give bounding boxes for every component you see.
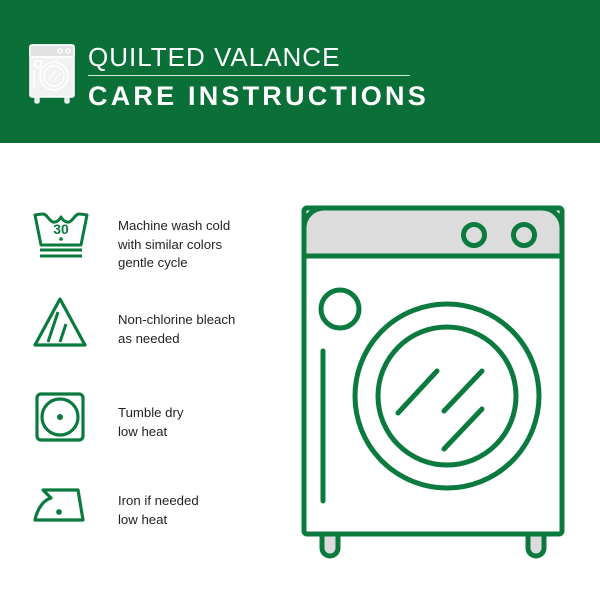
leg-left [322,534,338,556]
wash-temperature-value: 30 [53,221,69,237]
care-text-line: low heat [118,511,283,530]
care-text-line: as needed [118,330,283,349]
care-text-line: with similar colors [118,236,283,255]
machine-wash-cold-30-gentle-icon: 30 [31,205,91,265]
care-text-line: Iron if needed [118,492,283,511]
care-text-machine-wash: Machine wash cold with similar colors ge… [118,217,283,273]
care-row-iron: Iron if needed low heat [0,476,290,566]
care-text-iron: Iron if needed low heat [118,492,283,529]
title-divider [88,75,410,76]
washing-machine-icon [26,42,78,104]
care-text-line: low heat [118,423,283,442]
page-title-secondary: CARE INSTRUCTIONS [88,80,568,112]
care-instruction-list: 30 Machine wash cold with similar colors… [0,143,290,600]
non-chlorine-bleach-triangle-icon [31,293,91,353]
care-text-bleach: Non-chlorine bleach as needed [118,311,283,348]
care-row-tumble-dry: Tumble dry low heat [0,386,290,476]
header-title-block: QUILTED VALANCE CARE INSTRUCTIONS [88,42,568,112]
care-text-line: gentle cycle [118,254,283,273]
leg-right [528,534,544,556]
page-title-primary: QUILTED VALANCE [88,42,568,72]
care-row-bleach: Non-chlorine bleach as needed [0,293,290,383]
care-text-line: Non-chlorine bleach [118,311,283,330]
iron-low-heat-icon [31,476,91,536]
care-text-tumble-dry: Tumble dry low heat [118,404,283,441]
care-row-machine-wash: 30 Machine wash cold with similar colors… [0,205,290,295]
header-banner: QUILTED VALANCE CARE INSTRUCTIONS [0,0,600,143]
care-text-line: Tumble dry [118,404,283,423]
control-panel [304,208,562,256]
care-instructions-infographic: QUILTED VALANCE CARE INSTRUCTIONS 30 [0,0,600,600]
tumble-dry-low-heat-icon [31,386,91,446]
front-load-washing-machine-illustration [292,196,577,566]
care-text-line: Machine wash cold [118,217,283,236]
